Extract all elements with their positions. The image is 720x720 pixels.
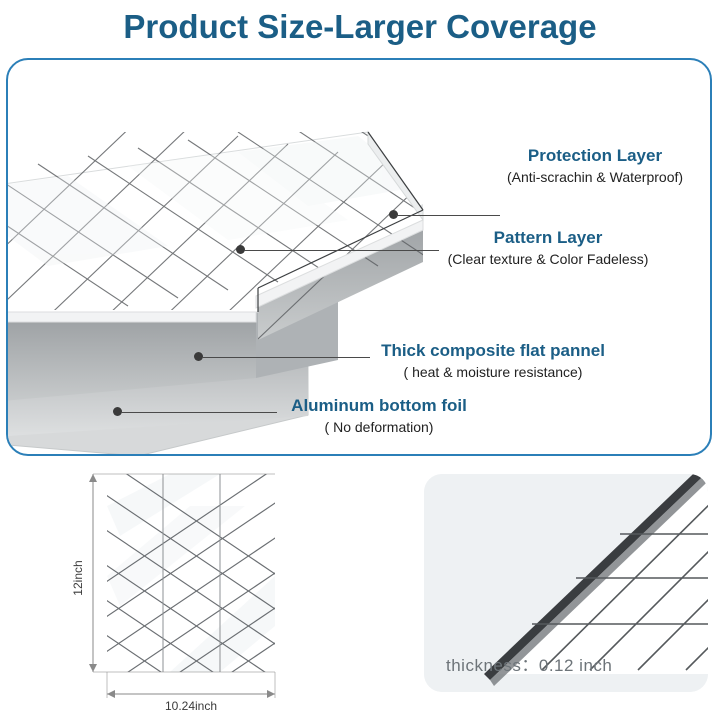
callout-composite-panel: Thick composite flat pannel ( heat & moi… xyxy=(363,341,623,381)
callout-pattern-layer: Pattern Layer (Clear texture & Color Fad… xyxy=(428,228,668,268)
callout-protection-layer: Protection Layer (Anti-scrachin & Waterp… xyxy=(490,146,700,186)
leader-line-protection-layer xyxy=(396,215,500,216)
leader-line-pattern-layer xyxy=(244,250,439,251)
thickness-caption: thickness：0.12 inch xyxy=(446,651,612,676)
tile-dimension-figure: 12inch 10.24inch xyxy=(60,466,320,710)
callout-title-aluminum-foil: Aluminum bottom foil xyxy=(274,396,484,416)
dimension-height-label: 12inch xyxy=(71,560,85,595)
page-title: Product Size-Larger Coverage xyxy=(0,8,720,46)
callout-subtitle-pattern-layer: (Clear texture & Color Fadeless) xyxy=(428,250,668,268)
callout-title-pattern-layer: Pattern Layer xyxy=(428,228,668,248)
callout-subtitle-protection-layer: (Anti-scrachin & Waterproof) xyxy=(490,168,700,186)
callout-subtitle-composite-panel: ( heat & moisture resistance) xyxy=(363,363,623,381)
callout-title-protection-layer: Protection Layer xyxy=(490,146,700,166)
leader-line-composite-panel xyxy=(202,357,370,358)
tile-sample-illustration: 12inch 10.24inch xyxy=(60,466,320,710)
leader-line-aluminum-foil xyxy=(121,412,277,413)
thickness-closeup-panel: thickness：0.12 inch xyxy=(424,474,708,692)
exploded-view-panel: Protection Layer (Anti-scrachin & Waterp… xyxy=(6,58,712,456)
thickness-value: 0.12 inch xyxy=(539,656,613,675)
dimension-width-label: 10.24inch xyxy=(165,699,217,710)
callout-aluminum-foil: Aluminum bottom foil ( No deformation) xyxy=(274,396,484,436)
callout-subtitle-aluminum-foil: ( No deformation) xyxy=(274,418,484,436)
callout-title-composite-panel: Thick composite flat pannel xyxy=(363,341,623,361)
thickness-label: thickness： xyxy=(446,656,539,675)
infographic-root: Product Size-Larger Coverage xyxy=(0,0,720,720)
